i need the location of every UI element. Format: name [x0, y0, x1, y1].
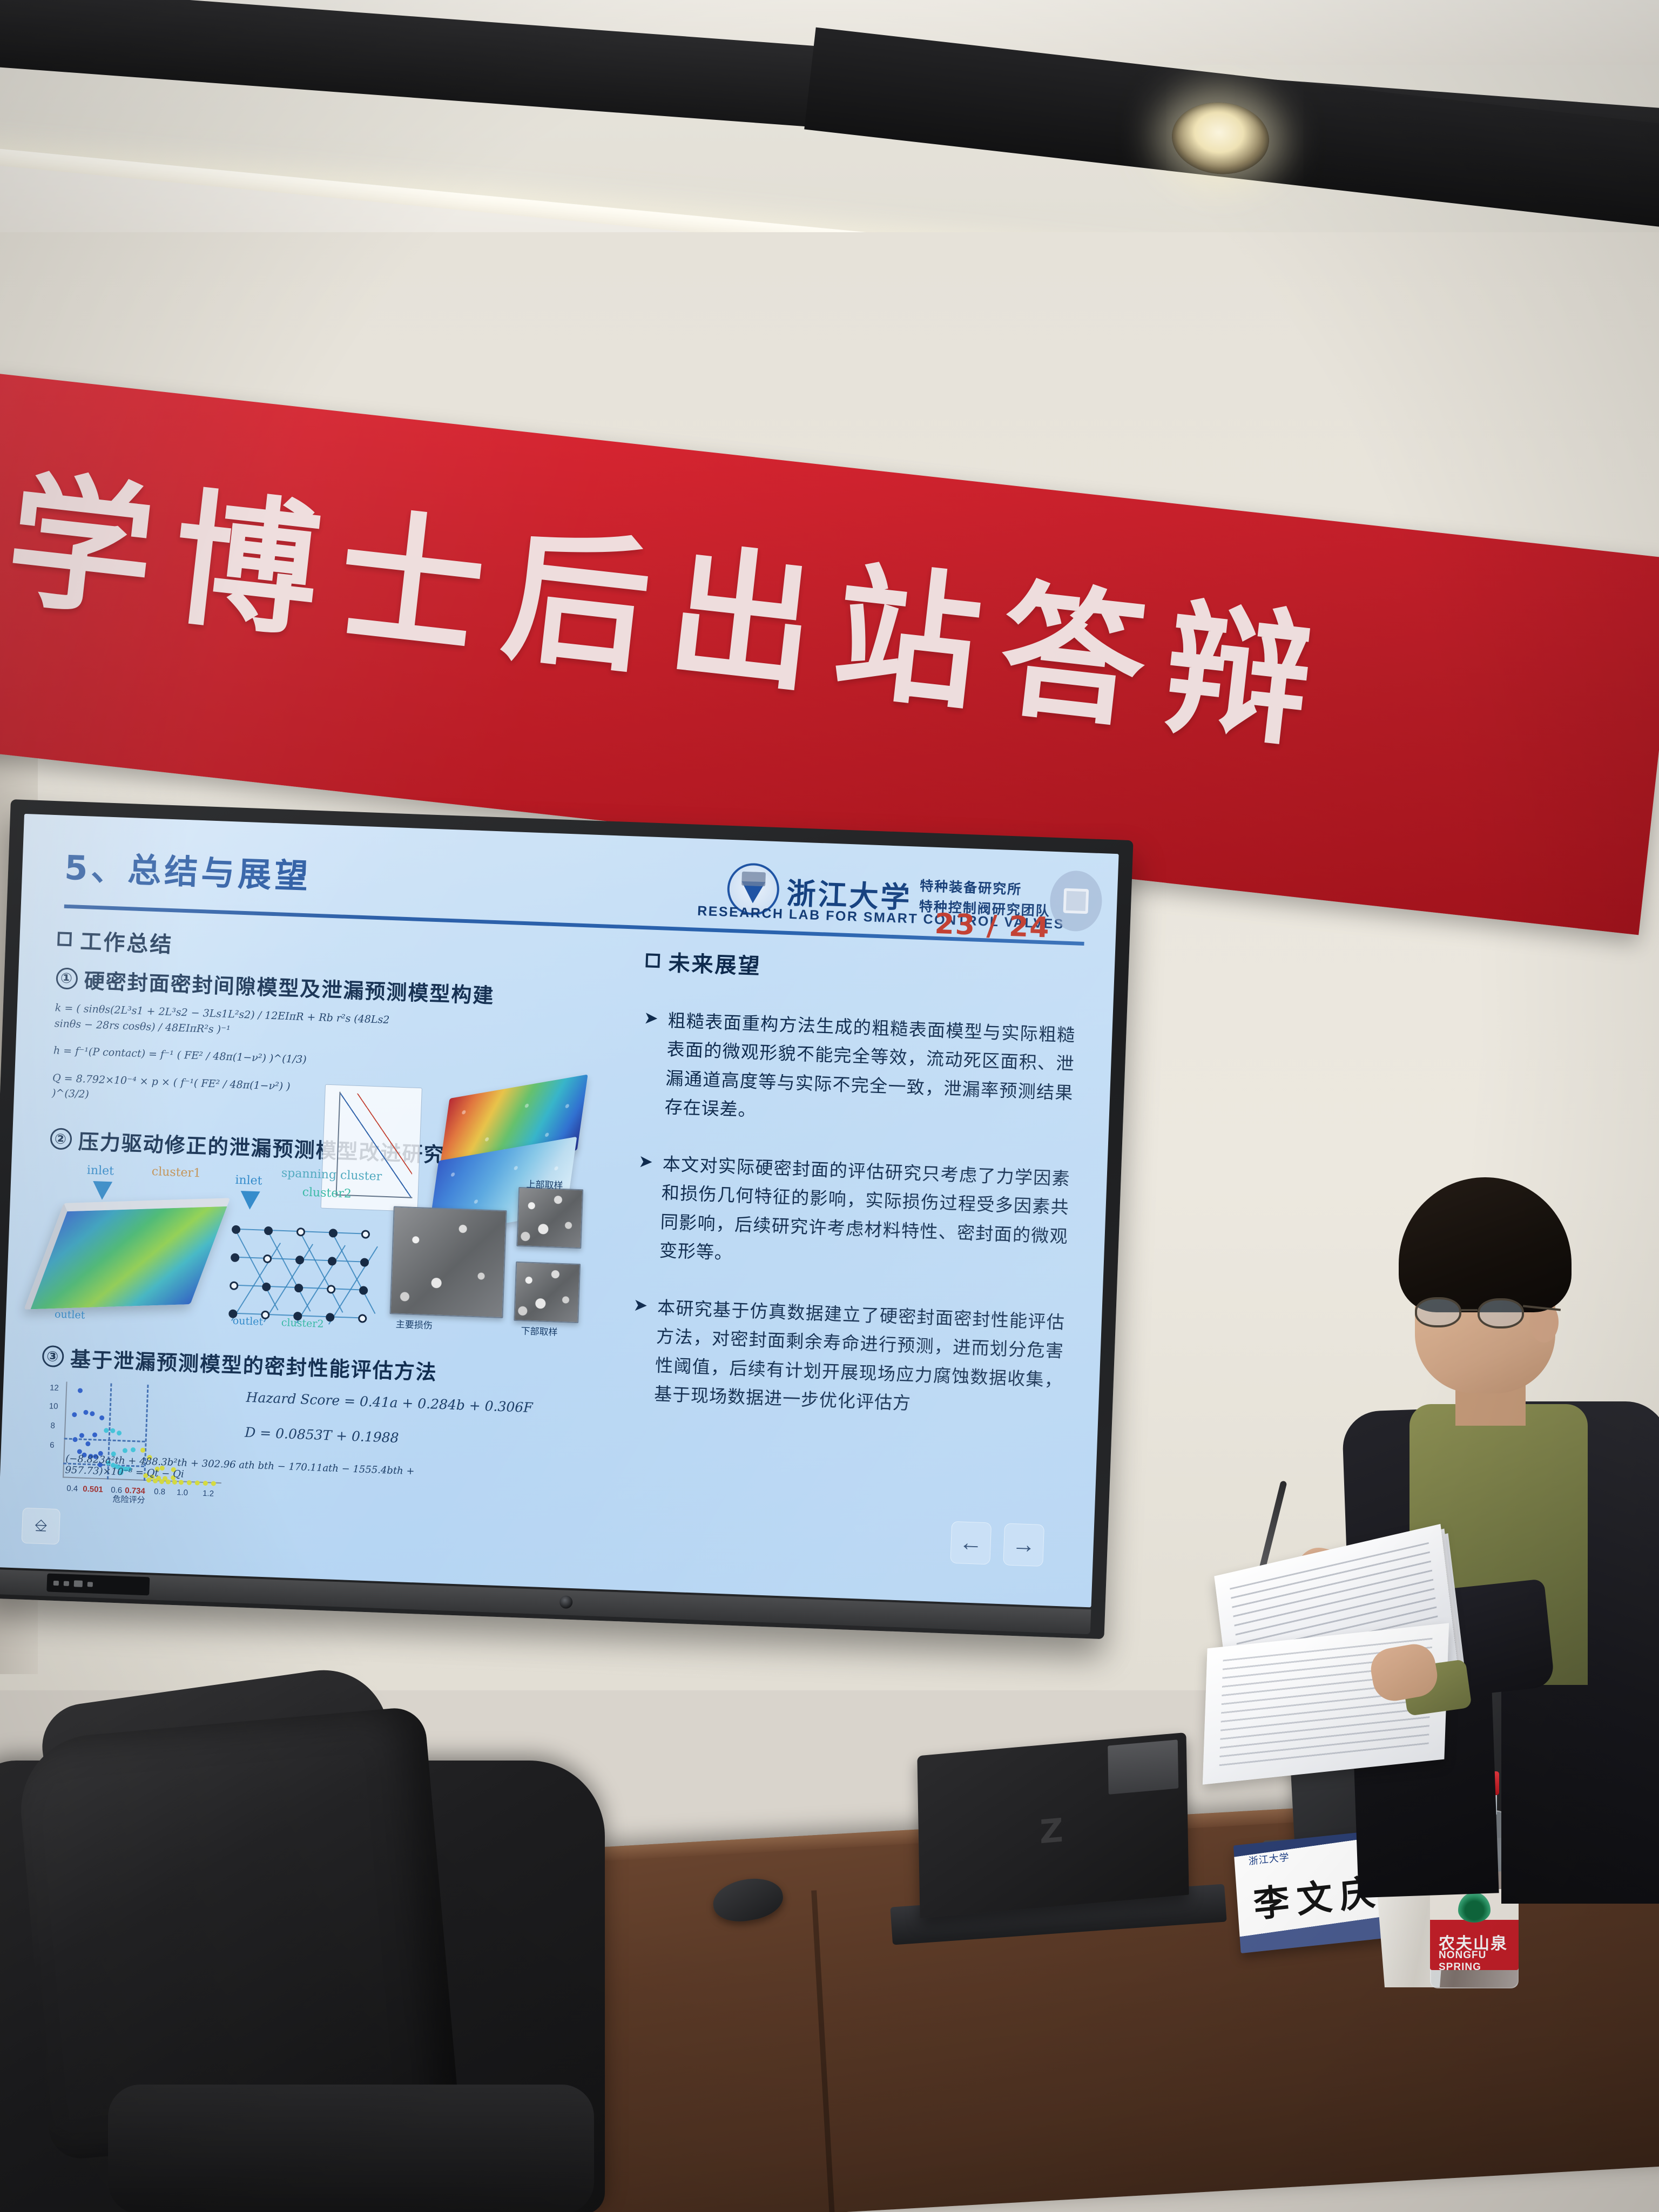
- laptop-asset-sticker: [1108, 1739, 1178, 1795]
- scatter-dot: [131, 1447, 136, 1452]
- scatter-dot: [78, 1388, 83, 1393]
- scatter-dot: [165, 1479, 170, 1484]
- cfd-contour-block-icon: [24, 1198, 230, 1310]
- scatter-dot: [152, 1478, 157, 1483]
- item-3-formula-2: D = 0.0853T + 0.1988: [245, 1424, 580, 1452]
- usb-b-port-icon: [74, 1580, 83, 1587]
- scatter-dot: [92, 1433, 97, 1438]
- sem-label-main: 主要损伤: [395, 1316, 433, 1331]
- sem-micrograph-2-icon: [516, 1186, 583, 1248]
- outlook-bullet-3: ➤ 本研究基于仿真数据建立了硬密封面密封性能评估方法，对密封面剩余寿命进行预测，…: [630, 1292, 1065, 1424]
- scatter-xtick-5: 0.8: [154, 1487, 165, 1496]
- outlook-bullet-1-text: 粗糙表面重构方法生成的粗糙表面模型与实际粗糙表面的微观形貌不能完全等效，流动死区…: [664, 1006, 1076, 1136]
- scatter-dot: [99, 1415, 104, 1420]
- figure-label-cluster2-bottom: cluster2: [281, 1317, 324, 1330]
- presenter-hair: [1399, 1177, 1572, 1312]
- outlook-bullet-2-text: 本文对实际硬密封面的评估研究只考虑了力学因素和损伤几何特征的影响，实际损伤过程受…: [659, 1150, 1071, 1280]
- scatter-xtick-6: 1.0: [177, 1488, 188, 1498]
- scatter-xtick-2: 0.501: [83, 1484, 103, 1494]
- scatter-dot: [85, 1441, 90, 1446]
- next-slide-button[interactable]: →: [1003, 1523, 1044, 1567]
- outlook-bullet-3-text: 本研究基于仿真数据建立了硬密封面密封性能评估方法，对密封面剩余寿命进行预测，进而…: [653, 1293, 1065, 1423]
- outlook-bullet-1: ➤ 粗糙表面重构方法生成的粗糙表面模型与实际粗糙表面的微观形貌不能完全等效，流动…: [640, 1005, 1076, 1136]
- inlet-arrow-icon: [92, 1181, 112, 1200]
- figure-label-cluster1: cluster1: [151, 1165, 201, 1180]
- scatter-points: [47, 1381, 225, 1387]
- hdmi-port-icon: [64, 1581, 69, 1586]
- scatter-ytick-12: 12: [50, 1383, 59, 1393]
- percolation-lattice-icon: [227, 1223, 376, 1325]
- item-3-number: ③: [42, 1345, 64, 1367]
- item-1-formula-1: k = ( sinθs(2L³s1 + 2L³s2 − 3Ls1L²s2) / …: [54, 1000, 401, 1043]
- bottle-brand-en: NONGFU SPRING: [1439, 1950, 1519, 1973]
- display-port-panel[interactable]: [46, 1573, 150, 1595]
- scatter-dot: [110, 1428, 115, 1433]
- scatter-ytick-10: 10: [49, 1401, 58, 1411]
- scatter-dot: [186, 1480, 191, 1485]
- right-column: 未来展望 ➤ 粗糙表面重构方法生成的粗糙表面模型与实际粗糙表面的微观形貌不能完全…: [630, 945, 1078, 1423]
- section-heading-label: 工作总结: [80, 924, 174, 959]
- next-slide-icon: →: [1011, 1531, 1036, 1559]
- item-3-figures: 12 10 8 6 0.4 0.501 0.6 0.734 0.8 1.0 1.…: [37, 1376, 586, 1531]
- scatter-xlabel: 危险评分: [112, 1493, 145, 1505]
- scatter-dot: [73, 1437, 78, 1442]
- left-column: 工作总结 ① 硬密封面密封间隙模型及泄漏预测模型构建 k = ( sinθs(2…: [37, 923, 603, 1531]
- outlook-bullet-2: ➤ 本文对实际硬密封面的评估研究只考虑了力学因素和损伤几何特征的影响，实际损伤过…: [635, 1149, 1070, 1280]
- chair-seat: [108, 2085, 594, 2212]
- item-2-figures: inlet cluster1 inlet spanning cluster cl…: [44, 1158, 595, 1340]
- figure-label-outlet-2: outlet: [233, 1314, 264, 1327]
- sem-micrograph-3-icon: [514, 1261, 581, 1323]
- scatter-dot: [79, 1433, 84, 1438]
- figure-label-inlet-1: inlet: [86, 1163, 114, 1178]
- item-1-formula-2: h = f⁻¹(P contact) = f⁻¹ ( FE² / 48π(1−ν…: [53, 1043, 313, 1068]
- scatter-dot: [211, 1481, 216, 1486]
- scatter-dot: [72, 1412, 77, 1417]
- scatter-dot: [117, 1431, 122, 1435]
- page-number: 23 / 24: [934, 908, 1051, 945]
- laptop-z-logo-icon: Z: [1040, 1811, 1064, 1851]
- item-3-formula-1: Hazard Score = 0.41a + 0.284b + 0.306F: [246, 1389, 581, 1417]
- presentation-slide: 5、总结与展望 浙江大学 特种装备研究所 特种控制阀研究团队 RESEARCH …: [0, 814, 1119, 1607]
- smart-display[interactable]: 5、总结与展望 浙江大学 特种装备研究所 特种控制阀研究团队 RESEARCH …: [0, 799, 1134, 1639]
- scatter-ytick-6: 6: [50, 1440, 55, 1449]
- scatter-ytick-8: 8: [50, 1421, 55, 1430]
- sem-micrograph-1-icon: [390, 1206, 507, 1318]
- item-1-formula-3: Q = 8.792×10⁻⁴ × p × ( f⁻¹( FE² / 48π(1−…: [52, 1070, 323, 1111]
- section-heading-outlook: 未来展望: [645, 945, 1078, 992]
- arrow-bullet-icon-2: ➤: [635, 1149, 653, 1265]
- arrow-bullet-icon-3: ➤: [630, 1292, 649, 1408]
- scatter-dot: [178, 1480, 183, 1485]
- square-bullet-icon: [57, 932, 72, 946]
- item-1-title: 硬密封面密封间隙模型及泄漏预测模型构建: [84, 964, 495, 1009]
- arrow-bullet-icon: ➤: [640, 1005, 659, 1121]
- prev-slide-icon: ←: [959, 1529, 983, 1557]
- annotate-icon: ⎒: [34, 1517, 48, 1536]
- laptop-front[interactable]: Z: [917, 1732, 1189, 1918]
- scatter-dot: [90, 1411, 95, 1416]
- name-card-logo: 浙江大学: [1248, 1850, 1290, 1868]
- scatter-dot: [123, 1448, 127, 1453]
- scatter-dot: [203, 1480, 208, 1485]
- figure-label-cluster2: cluster2: [302, 1185, 352, 1201]
- hazard-scatter-chart: 12 10 8 6 0.4 0.501 0.6 0.734 0.8 1.0 1.…: [43, 1381, 225, 1502]
- aux-port-icon: [87, 1582, 93, 1587]
- lab-unit-line1: 特种装备研究所: [920, 875, 1051, 900]
- item-3-formulas: Hazard Score = 0.41a + 0.284b + 0.306F D…: [243, 1389, 581, 1494]
- figure-label-outlet-1: outlet: [55, 1308, 85, 1321]
- conference-room-photo: 学博士后出站答辩 5、总结与展望 浙江大学 特种装备研究所 特种控制阀研究团队 …: [0, 0, 1659, 2212]
- scatter-xtick-1: 0.4: [66, 1483, 78, 1493]
- page-title: 5、总结与展望: [64, 840, 312, 898]
- scatter-dot: [195, 1480, 200, 1485]
- presenter: [1339, 1177, 1659, 1933]
- section-heading-outlook-label: 未来展望: [668, 946, 762, 980]
- inlet-arrow-icon-2: [240, 1191, 260, 1210]
- prev-slide-button[interactable]: ←: [950, 1521, 992, 1565]
- sem-label-top: 上部取样: [526, 1176, 563, 1191]
- scatter-dot: [172, 1479, 177, 1484]
- display-screen[interactable]: 5、总结与展望 浙江大学 特种装备研究所 特种控制阀研究团队 RESEARCH …: [0, 814, 1119, 1607]
- sem-label-bottom: 下部取样: [521, 1323, 558, 1338]
- scatter-dot: [83, 1410, 88, 1414]
- annotate-tool-button[interactable]: ⎒: [22, 1508, 60, 1545]
- slide-icon: [1063, 888, 1089, 914]
- usb-port-icon: [53, 1580, 59, 1585]
- scatter-xtick-7: 1.2: [203, 1488, 214, 1498]
- square-bullet-icon-2: [645, 953, 660, 968]
- item-2-number: ②: [50, 1128, 72, 1150]
- item-1-number: ①: [56, 967, 78, 989]
- scatter-dot: [159, 1479, 164, 1483]
- figure-label-inlet-2: inlet: [235, 1173, 262, 1188]
- eyeglasses-icon: [1415, 1297, 1550, 1327]
